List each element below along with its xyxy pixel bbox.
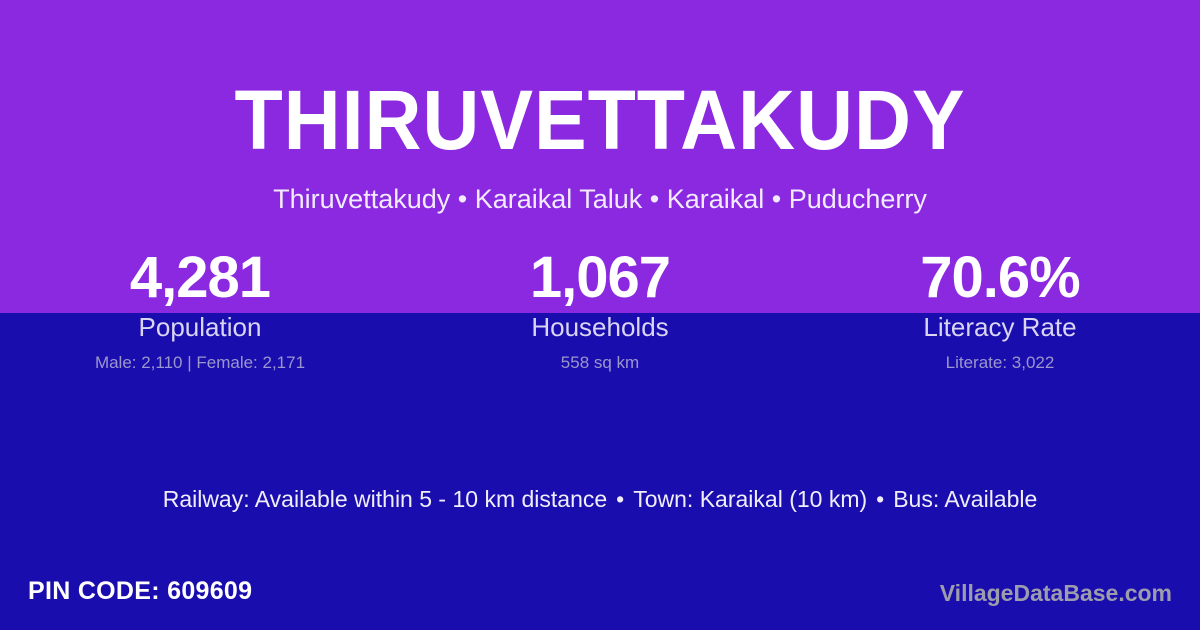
stat-households-value: 1,067 bbox=[400, 248, 800, 309]
stat-households-detail: 558 sq km bbox=[400, 353, 800, 373]
amenity-separator-1: • bbox=[607, 486, 633, 512]
amenities-line: Railway: Available within 5 - 10 km dist… bbox=[0, 486, 1200, 514]
pin-code: PIN CODE: 609609 bbox=[28, 576, 252, 606]
amenity-bus: Bus: Available bbox=[893, 486, 1037, 512]
stat-population-label: Population bbox=[0, 313, 400, 343]
village-info-card: THIRUVETTAKUDY Thiruvettakudy • Karaikal… bbox=[0, 0, 1200, 630]
stats-row: 4,281 Population Male: 2,110 | Female: 2… bbox=[0, 248, 1200, 372]
stat-literacy-rate: 70.6% Literacy Rate Literate: 3,022 bbox=[800, 248, 1200, 372]
stat-literacy-rate-value: 70.6% bbox=[800, 248, 1200, 309]
stat-households: 1,067 Households 558 sq km bbox=[400, 248, 800, 372]
page-title: THIRUVETTAKUDY bbox=[36, 78, 1164, 162]
amenity-town: Town: Karaikal (10 km) bbox=[633, 486, 867, 512]
amenity-railway: Railway: Available within 5 - 10 km dist… bbox=[163, 486, 607, 512]
stat-households-label: Households bbox=[400, 313, 800, 343]
site-branding: VillageDataBase.com bbox=[940, 580, 1172, 608]
stat-population-detail: Male: 2,110 | Female: 2,171 bbox=[0, 353, 400, 373]
stat-population-value: 4,281 bbox=[0, 248, 400, 309]
amenity-separator-2: • bbox=[867, 486, 893, 512]
stat-population: 4,281 Population Male: 2,110 | Female: 2… bbox=[0, 248, 400, 372]
breadcrumb: Thiruvettakudy • Karaikal Taluk • Karaik… bbox=[0, 183, 1200, 215]
stat-literacy-rate-label: Literacy Rate bbox=[800, 313, 1200, 343]
stat-literacy-rate-detail: Literate: 3,022 bbox=[800, 353, 1200, 373]
